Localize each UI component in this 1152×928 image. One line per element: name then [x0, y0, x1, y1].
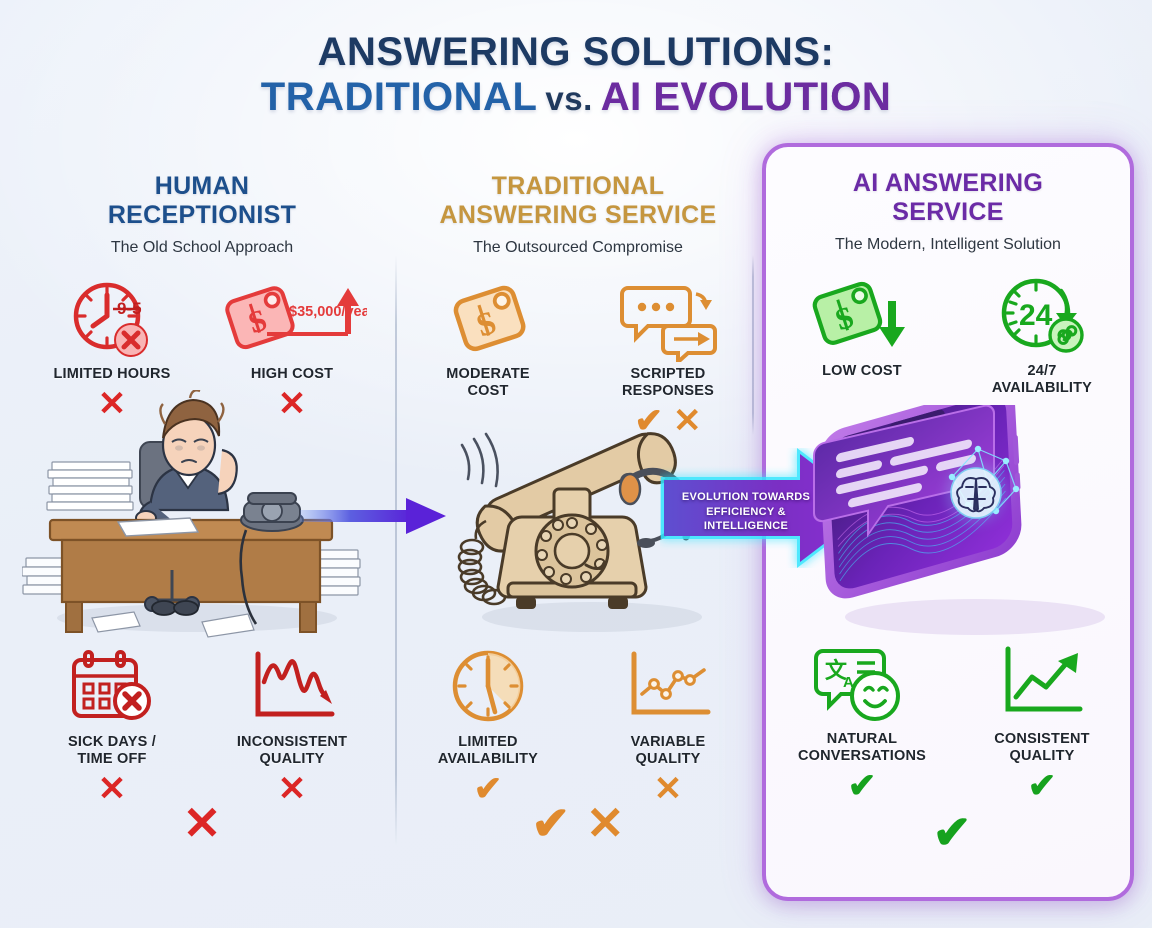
verdict-check-mark: ✔	[531, 800, 570, 846]
illustration-ai-smartphone	[800, 405, 1120, 640]
feature-inconsistent-quality: INCONSISTENT QUALITY ✕	[209, 642, 375, 810]
page-title: ANSWERING SOLUTIONS: TRADITIONALvs.AI EV…	[0, 30, 1152, 120]
feature-label: SCRIPTED RESPONSES	[585, 366, 751, 400]
feature-label-line1: LIMITED	[458, 734, 517, 750]
column-title-line1: AI ANSWERING	[853, 169, 1043, 197]
feature-label-line2: QUALITY	[635, 751, 700, 767]
column-title-line1: TRADITIONAL	[492, 172, 665, 200]
column-title-line2: ANSWERING SERVICE	[440, 201, 717, 229]
feature-label: LOW COST	[779, 363, 945, 380]
feature-label: 24/7 AVAILABILITY	[959, 363, 1125, 397]
feature-label: INCONSISTENT QUALITY	[209, 734, 375, 768]
feature-label-line1: VARIABLE	[631, 734, 706, 750]
feature-label: MODERATE COST	[405, 366, 571, 400]
rising-chart-icon	[959, 639, 1125, 731]
column-verdict-traditional: ✔ ✕	[398, 800, 758, 846]
feature-label: VARIABLE QUALITY	[585, 734, 751, 768]
column-title-ai: AI ANSWERING SERVICE	[766, 169, 1130, 227]
feature-variable-quality: VARIABLE QUALITY ✕	[585, 642, 751, 810]
column-header-ai: AI ANSWERING SERVICE The Modern, Intelli…	[766, 147, 1130, 254]
column-divider-1	[395, 255, 397, 845]
verdict-x-mark: ✕	[183, 800, 222, 846]
calendar-with-x-badge-icon	[29, 642, 195, 734]
feature-label-line2: TIME OFF	[77, 751, 146, 767]
feature-label-line1: LIMITED HOURS	[54, 366, 171, 382]
feature-label-line2: AVAILABILITY	[438, 751, 538, 767]
feature-verdict: ✔	[779, 765, 945, 807]
feature-label: SICK DAYS / TIME OFF	[29, 734, 195, 768]
clock-icon-text: 24	[1019, 299, 1053, 332]
price-tag-icon-text: $35,000/year	[289, 304, 367, 320]
column-title-human: HUMAN RECEPTIONIST	[22, 172, 382, 230]
feature-row-bottom-human: SICK DAYS / TIME OFF ✕ INCONSISTENT QUAL…	[22, 642, 382, 810]
declining-chart-icon	[209, 642, 375, 734]
clock-with-x-badge-icon: 9-5	[29, 274, 195, 366]
feature-row-top-traditional: S MODERATE COST	[398, 274, 758, 442]
verdict-x-mark: ✕	[586, 800, 625, 846]
feature-label-line2: AVAILABILITY	[992, 380, 1092, 396]
arrow-evolution-label: EVOLUTION TOWARDS EFFICIENCY & INTELLIGE…	[676, 490, 816, 534]
clock-with-infinity-badge-icon: 24	[959, 271, 1125, 363]
feature-natural-conversations: 文 A NATURAL CONVERSATIONS ✔	[779, 639, 945, 807]
feature-label-line1: NATURAL	[827, 731, 897, 747]
feature-consistent-quality: CONSISTENT QUALITY ✔	[959, 639, 1125, 807]
feature-moderate-cost: S MODERATE COST	[405, 274, 571, 442]
title-ai: AI EVOLUTION	[601, 75, 891, 119]
fluctuating-chart-icon	[585, 642, 751, 734]
verdict-check-mark: ✔	[933, 809, 972, 855]
feature-label: NATURAL CONVERSATIONS	[779, 731, 945, 765]
feature-label-line1: 24/7	[1027, 363, 1056, 379]
arrow-label-line1: EVOLUTION TOWARDS	[682, 491, 810, 503]
feature-label-line1: CONSISTENT	[994, 731, 1089, 747]
feature-label-line1: LOW COST	[822, 363, 902, 379]
column-title-line1: HUMAN	[155, 172, 250, 200]
feature-label-line1: MODERATE	[446, 366, 530, 382]
feature-label: LIMITED HOURS	[29, 366, 195, 383]
price-tag-icon: S	[405, 274, 571, 366]
arrow-label-line3: INTELLIGENCE	[704, 520, 788, 532]
infographic-canvas: ANSWERING SOLUTIONS: TRADITIONALvs.AI EV…	[0, 0, 1152, 928]
column-subtitle-human: The Old School Approach	[22, 239, 382, 257]
feature-label-line2: CONVERSATIONS	[798, 748, 926, 764]
clock-partial-icon	[405, 642, 571, 734]
feature-row-bottom-traditional: LIMITED AVAILABILITY ✔	[398, 642, 758, 810]
feature-limited-availability: LIMITED AVAILABILITY ✔	[405, 642, 571, 810]
feature-label-line1: INCONSISTENT	[237, 734, 347, 750]
feature-label: HIGH COST	[209, 366, 375, 383]
title-traditional: TRADITIONAL	[261, 75, 538, 119]
feature-verdict: ✔	[959, 765, 1125, 807]
column-verdict-human: ✕	[22, 800, 382, 846]
column-title-line2: SERVICE	[892, 198, 1003, 226]
feature-row-bottom-ai: 文 A NATURAL CONVERSATIONS ✔	[772, 639, 1132, 807]
feature-label-line2: COST	[467, 383, 508, 399]
feature-label-line2: QUALITY	[1009, 748, 1074, 764]
title-line-2: TRADITIONALvs.AI EVOLUTION	[0, 75, 1152, 120]
column-verdict-ai: ✔	[772, 809, 1132, 855]
column-header-traditional: TRADITIONAL ANSWERING SERVICE The Outsou…	[398, 150, 758, 257]
title-line-1: ANSWERING SOLUTIONS:	[0, 30, 1152, 75]
feature-label: LIMITED AVAILABILITY	[405, 734, 571, 768]
column-title-traditional: TRADITIONAL ANSWERING SERVICE	[398, 172, 758, 230]
title-vs: vs.	[545, 80, 592, 117]
column-subtitle-ai: The Modern, Intelligent Solution	[766, 236, 1130, 254]
column-header-human: HUMAN RECEPTIONIST The Old School Approa…	[22, 150, 382, 257]
column-title-line2: RECEPTIONIST	[108, 201, 296, 229]
arrow-label-line2: EFFICIENCY &	[706, 506, 786, 518]
chat-bubbles-loop-icon	[585, 274, 751, 366]
feature-label-line1: SICK DAYS /	[68, 734, 156, 750]
column-subtitle-traditional: The Outsourced Compromise	[398, 239, 758, 257]
feature-label-line2: QUALITY	[259, 751, 324, 767]
feature-label: CONSISTENT QUALITY	[959, 731, 1125, 765]
price-tag-with-up-arrow-icon: S $35,000/year	[209, 274, 375, 366]
feature-scripted-responses: SCRIPTED RESPONSES ✔✕	[585, 274, 751, 442]
feature-label-line1: SCRIPTED	[631, 366, 706, 382]
feature-label-line2: RESPONSES	[622, 383, 714, 399]
translate-chat-smiley-icon: 文 A	[779, 639, 945, 731]
feature-label-line1: HIGH COST	[251, 366, 333, 382]
price-tag-with-down-arrow-icon: S	[779, 271, 945, 363]
feature-sick-days: SICK DAYS / TIME OFF ✕	[29, 642, 195, 810]
